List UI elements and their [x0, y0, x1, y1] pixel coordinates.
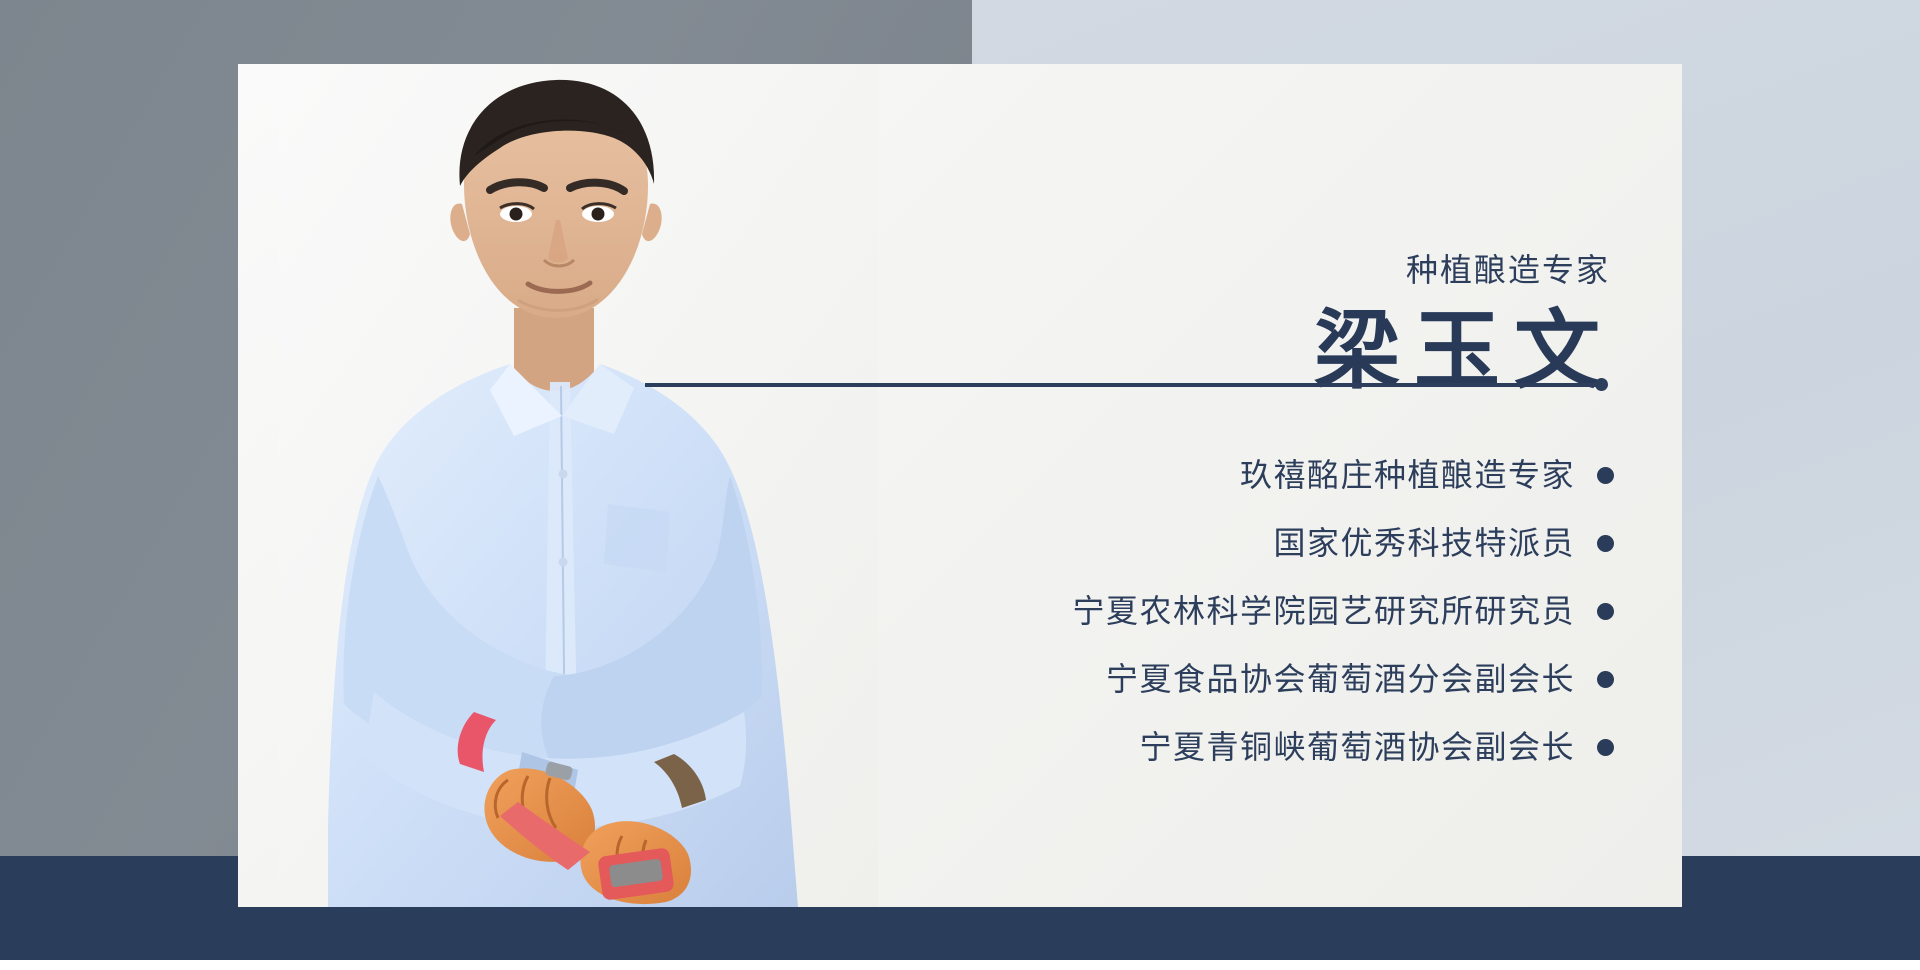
list-item: 宁夏青铜峡葡萄酒协会副会长	[714, 720, 1614, 774]
bottom-white-strip	[0, 960, 1920, 970]
credential-text: 宁夏食品协会葡萄酒分会副会长	[1106, 663, 1575, 695]
credential-list: 玖禧酩庄种植酿造专家 国家优秀科技特派员 宁夏农林科学院园艺研究所研究员 宁夏食…	[714, 448, 1614, 774]
poster-stage: 种植酿造专家 梁玉文 玖禧酩庄种植酿造专家 国家优秀科技特派员 宁夏农林科学院园…	[0, 0, 1920, 970]
divider-end-dot	[1595, 378, 1608, 391]
expert-subtitle: 种植酿造专家	[1406, 254, 1610, 286]
bullet-dot-icon	[1597, 467, 1614, 484]
list-item: 宁夏农林科学院园艺研究所研究员	[714, 584, 1614, 638]
list-item: 玖禧酩庄种植酿造专家	[714, 448, 1614, 502]
bullet-dot-icon	[1597, 671, 1614, 688]
bullet-dot-icon	[1597, 739, 1614, 756]
divider	[645, 382, 1608, 387]
credential-text: 玖禧酩庄种植酿造专家	[1240, 459, 1575, 491]
list-item: 宁夏食品协会葡萄酒分会副会长	[714, 652, 1614, 706]
credential-text: 宁夏青铜峡葡萄酒协会副会长	[1139, 731, 1575, 763]
profile-card: 种植酿造专家 梁玉文 玖禧酩庄种植酿造专家 国家优秀科技特派员 宁夏农林科学院园…	[238, 64, 1682, 907]
credential-text: 宁夏农林科学院园艺研究所研究员	[1072, 595, 1575, 627]
bullet-dot-icon	[1597, 535, 1614, 552]
divider-rule	[645, 383, 1597, 387]
bullet-dot-icon	[1597, 603, 1614, 620]
list-item: 国家优秀科技特派员	[714, 516, 1614, 570]
credential-text: 国家优秀科技特派员	[1273, 527, 1575, 559]
